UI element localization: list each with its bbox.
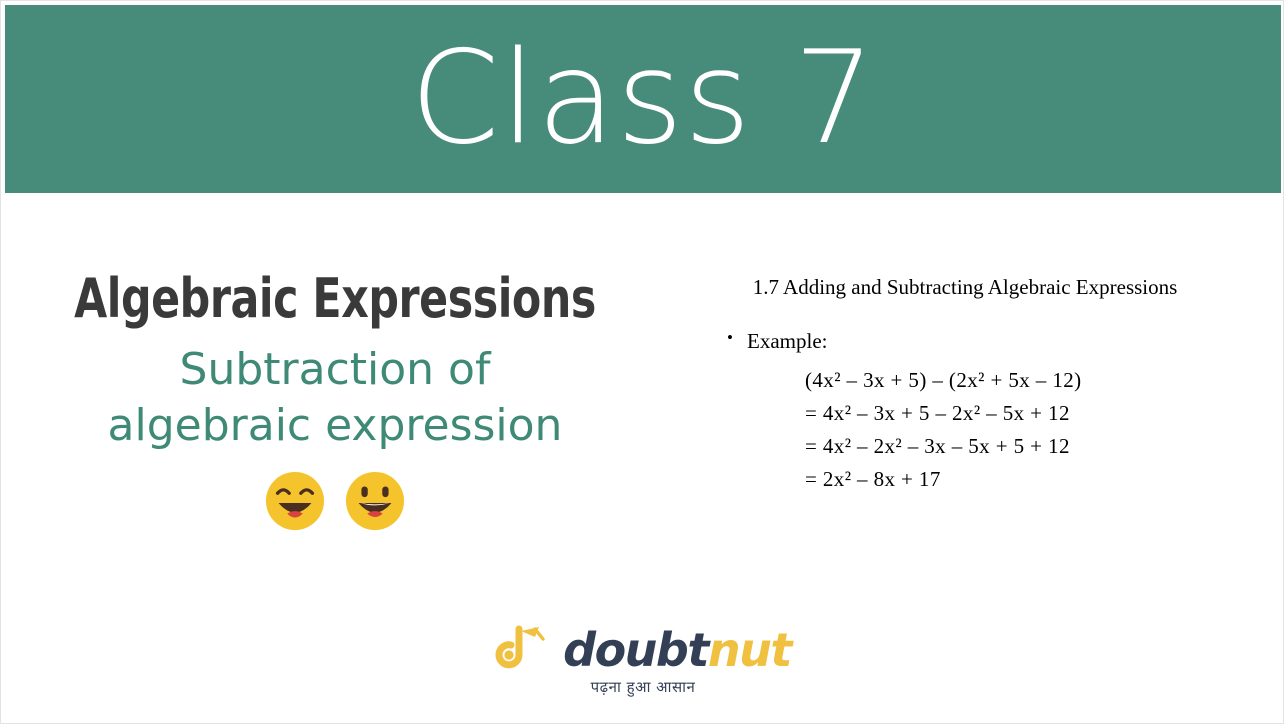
grinning-face-emoji (344, 470, 406, 532)
left-content-column: Algebraic Expressions Subtraction of alg… (25, 271, 645, 532)
slide-body: Algebraic Expressions Subtraction of alg… (5, 193, 1281, 721)
logo-row: doubtnut (495, 625, 791, 675)
logo-text-nut: nut (708, 623, 791, 677)
class-banner: Class 7 (5, 5, 1281, 193)
equation-line: = 2x² – 8x + 17 (805, 463, 1225, 496)
topic-subtitle: Subtraction of algebraic expression (25, 342, 645, 455)
topic-subtitle-line-1: Subtraction of (25, 342, 645, 398)
emoji-row (25, 470, 645, 532)
slide-canvas: Class 7 Algebraic Expressions Subtractio… (0, 0, 1284, 724)
example-label: Example: (747, 329, 827, 353)
doubtnut-logo: doubtnut पढ़ना हुआ आसान (5, 625, 1281, 697)
topic-title: Algebraic Expressions (62, 271, 608, 328)
logo-text-doubt: doubt (563, 623, 708, 677)
doubtnut-mark-icon (495, 625, 551, 675)
right-content-column: 1.7 Adding and Subtracting Algebraic Exp… (705, 273, 1225, 497)
example-bullet: • Example: (705, 329, 1225, 354)
topic-subtitle-line-2: algebraic expression (25, 398, 645, 454)
equation-list: (4x² – 3x + 5) – (2x² + 5x – 12) = 4x² –… (705, 364, 1225, 497)
section-heading: 1.7 Adding and Subtracting Algebraic Exp… (705, 273, 1225, 303)
equation-line: = 4x² – 2x² – 3x – 5x + 5 + 12 (805, 430, 1225, 463)
class-banner-title: Class 7 (410, 35, 876, 163)
logo-tagline: पढ़ना हुआ आसान (591, 677, 696, 697)
logo-wordmark: doubtnut (563, 627, 791, 673)
grinning-squinting-face-emoji (264, 470, 326, 532)
equation-line: = 4x² – 3x + 5 – 2x² – 5x + 12 (805, 397, 1225, 430)
equation-line: (4x² – 3x + 5) – (2x² + 5x – 12) (805, 364, 1225, 397)
bullet-point-icon: • (727, 328, 733, 348)
